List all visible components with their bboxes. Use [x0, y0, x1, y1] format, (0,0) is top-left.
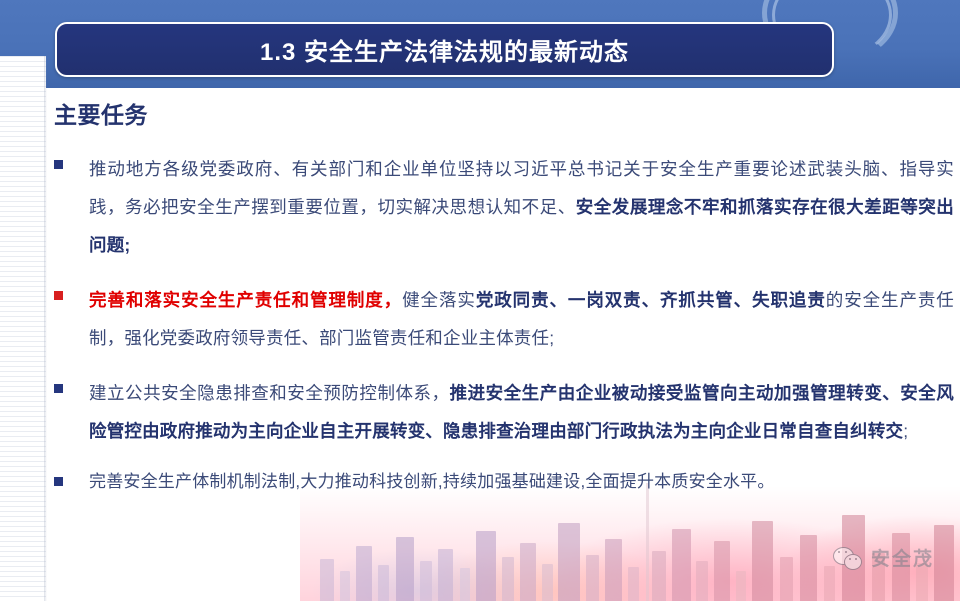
watermark-label: 安全茂	[871, 544, 934, 571]
slide-title-box: 1.3 安全生产法律法规的最新动态	[55, 22, 834, 77]
section-heading: 主要任务	[54, 96, 148, 130]
left-stripe-rail	[0, 56, 46, 601]
wechat-icon	[833, 547, 863, 569]
list-item: 建立公共安全隐患排查和安全预防控制体系，推进安全生产由企业被动接受监管向主动加强…	[54, 374, 954, 450]
text-run: ;	[903, 421, 908, 441]
text-run-emphasis: 党政同责、一岗双责、齐抓共管、失职追责	[476, 290, 826, 310]
list-item: 完善和落实安全生产责任和管理制度，健全落实党政同责、一岗双责、齐抓共管、失职追责…	[54, 281, 954, 357]
bullet-list: 推动地方各级党委政府、有关部门和企业单位坚持以习近平总书记关于安全生产重要论述武…	[54, 150, 954, 514]
square-bullet-icon	[54, 384, 63, 393]
bullet-paragraph: 完善安全生产体制机制法制,大力推动科技创新,持续加强基础建设,全面提升本质安全水…	[89, 467, 954, 497]
list-item: 推动地方各级党委政府、有关部门和企业单位坚持以习近平总书记关于安全生产重要论述武…	[54, 150, 954, 264]
square-bullet-icon	[54, 291, 63, 300]
list-item: 完善安全生产体制机制法制,大力推动科技创新,持续加强基础建设,全面提升本质安全水…	[54, 467, 954, 497]
text-run: 健全落实	[402, 290, 476, 310]
text-run: 完善安全生产体制机制法制,大力推动科技创新,持续加强基础建设,全面提升本质安全水…	[89, 472, 775, 491]
bullet-paragraph: 推动地方各级党委政府、有关部门和企业单位坚持以习近平总书记关于安全生产重要论述武…	[89, 150, 954, 264]
page-title: 1.3 安全生产法律法规的最新动态	[260, 32, 629, 67]
text-run-emphasis: 完善和落实安全生产责任和管理制度，	[89, 290, 402, 310]
slide-canvas: 1.3 安全生产法律法规的最新动态 主要任务 推动地方各级党委政府、有关部门和企…	[0, 0, 960, 601]
left-rail-shadow	[44, 56, 47, 601]
bullet-paragraph: 建立公共安全隐患排查和安全预防控制体系，推进安全生产由企业被动接受监管向主动加强…	[89, 374, 954, 450]
watermark: 安全茂	[833, 544, 934, 571]
bullet-paragraph: 完善和落实安全生产责任和管理制度，健全落实党政同责、一岗双责、齐抓共管、失职追责…	[89, 281, 954, 357]
square-bullet-icon	[54, 160, 63, 169]
square-bullet-icon	[54, 477, 63, 486]
text-run: 建立公共安全隐患排查和安全预防控制体系，	[89, 383, 450, 403]
